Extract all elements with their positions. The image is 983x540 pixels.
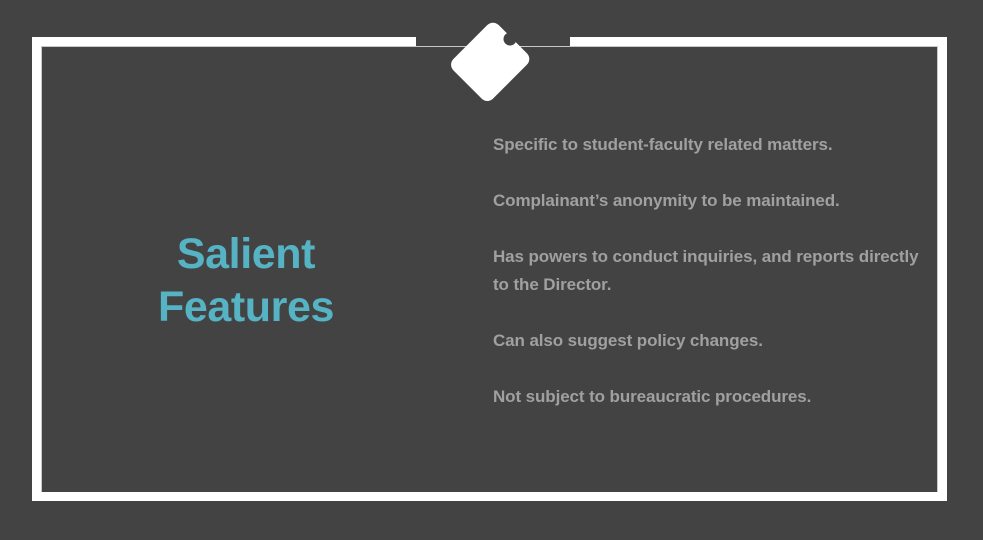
list-item: Can also suggest policy changes. (493, 327, 925, 355)
list-item: Specific to student-faculty related matt… (493, 131, 925, 159)
tag-icon (443, 9, 543, 109)
slide-canvas: Salient Features Specific to student-fac… (0, 0, 983, 540)
list-item: Not subject to bureaucratic procedures. (493, 383, 925, 411)
page-title-line-2: Features (36, 281, 456, 334)
features-list: Specific to student-faculty related matt… (493, 131, 925, 411)
list-item: Has powers to conduct inquiries, and rep… (493, 243, 925, 299)
frame-border-top-right (570, 37, 947, 46)
page-title: Salient Features (36, 228, 456, 334)
frame-border-bottom (32, 492, 947, 501)
frame-border-right (938, 37, 947, 501)
list-item: Complainant’s anonymity to be maintained… (493, 187, 925, 215)
frame-border-top-left (32, 37, 416, 46)
page-title-line-1: Salient (36, 228, 456, 281)
